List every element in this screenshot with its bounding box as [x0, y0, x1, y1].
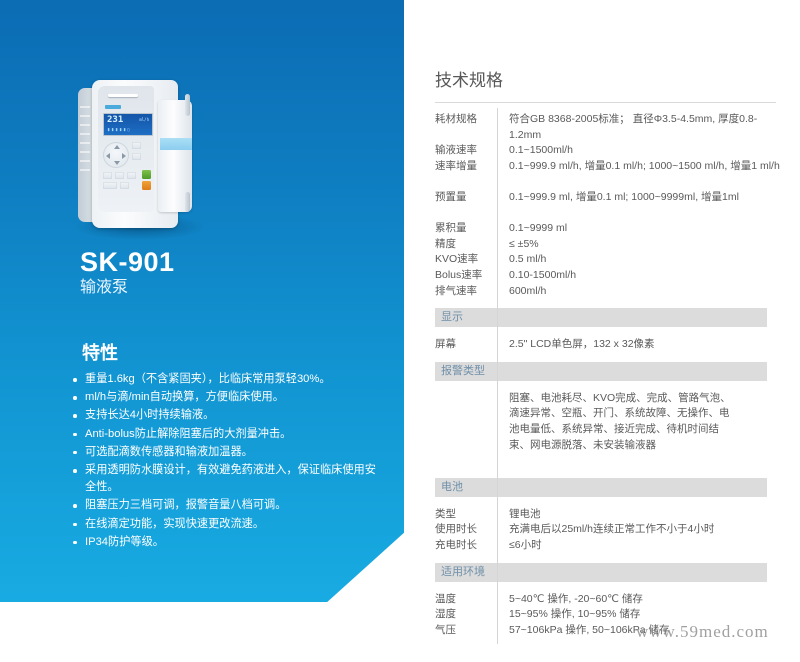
spec-section-title: 电池: [441, 480, 463, 495]
feature-item: 重量1.6kg（不含紧固夹），比临床常用泵轻30%。: [70, 371, 382, 388]
spec-label: 精度: [435, 237, 497, 253]
spec-section-title: 显示: [441, 310, 463, 325]
pump-key-bolus: [132, 153, 141, 160]
spec-value: 锂电池: [509, 507, 789, 523]
pump-door-hinge-top: [185, 94, 190, 116]
lcd-rate-value: 231: [107, 116, 123, 125]
pump-side-labels: [80, 106, 94, 198]
spec-section-title: 报警类型: [441, 364, 485, 379]
pump-key-3: [127, 172, 136, 179]
lcd-progress-bar: ▮▮▮▮▮▯: [107, 127, 131, 133]
feature-item: Anti-bolus防止解除阻塞后的大剂量冲击。: [70, 426, 382, 443]
pump-door-window: [160, 138, 192, 150]
feature-item: 可选配滴数传感器和输液加温器。: [70, 444, 382, 461]
spec-label: 输液速率: [435, 143, 497, 159]
pump-keypad: [101, 140, 153, 190]
pump-indicator-leds: [134, 105, 150, 109]
spec-label: 累积量: [435, 221, 497, 237]
spec-label: 湿度: [435, 607, 497, 623]
features-heading: 特性: [82, 341, 118, 365]
spec-label: KVO速率: [435, 252, 497, 268]
pump-key-menu: [132, 142, 141, 149]
spec-value: 5~40℃ 操作, -20~60℃ 储存: [509, 592, 789, 608]
pump-key-1: [103, 172, 112, 179]
spec-value: 阻塞、电池耗尽、KVO完成、完成、管路气泡、滴速异常、空瓶、开门、系统故障、无操…: [509, 391, 731, 453]
pump-key-stop: [142, 181, 151, 190]
specifications-heading: 技术规格: [435, 69, 503, 93]
spec-label: 预置量: [435, 190, 497, 206]
spec-label: 使用时长: [435, 522, 497, 538]
feature-item: 在线滴定功能，实现快速更改流速。: [70, 516, 382, 533]
spec-section-band: 适用环境: [435, 563, 767, 582]
product-image-infusion-pump: 231 ml/h ▮▮▮▮▮▯: [72, 72, 204, 240]
pump-dpad: [103, 142, 129, 168]
spec-label: 耗材规格: [435, 112, 497, 128]
feature-item: 采用透明防水膜设计，有效避免药液进入，保证临床使用安全性。: [70, 462, 382, 496]
spec-value: 600ml/h: [509, 284, 789, 300]
arrow-up-icon: [114, 145, 120, 149]
site-watermark: www.59med.com: [636, 622, 769, 642]
spec-value: 0.1~999.9 ml/h, 增量0.1 ml/h; 1000~1500 ml…: [509, 159, 789, 175]
feature-item: IP34防护等级。: [70, 534, 382, 551]
spec-value: 充满电后以25ml/h连续正常工作不小于4小时: [509, 522, 789, 538]
spec-value: 0.1~999.9 ml, 增量0.1 ml; 1000~9999ml, 增量1…: [509, 190, 789, 206]
spec-section-band: 显示: [435, 308, 767, 327]
features-list: 重量1.6kg（不含紧固夹），比临床常用泵轻30%。ml/h与滴/min自动换算…: [70, 371, 382, 552]
spec-label: 温度: [435, 592, 497, 608]
spec-value: 0.1~9999 ml: [509, 221, 789, 237]
pump-door-hinge-bottom: [185, 192, 190, 212]
feature-item: 支持长达4小时持续输液。: [70, 407, 382, 424]
product-model-name: SK-901: [80, 246, 380, 278]
spec-label: Bolus速率: [435, 268, 497, 284]
spec-section-band: 电池: [435, 478, 767, 497]
spec-value: 15~95% 操作, 10~95% 储存: [509, 607, 789, 623]
arrow-down-icon: [114, 161, 120, 165]
arrow-left-icon: [106, 153, 110, 159]
pump-key-start: [142, 170, 151, 179]
spec-value: ≤6小时: [509, 538, 789, 554]
spec-label: 气压: [435, 623, 497, 639]
lcd-rate-unit: ml/h: [139, 117, 149, 122]
spec-label: 排气速率: [435, 284, 497, 300]
spec-value: 2.5" LCD单色屏，132 x 32像素: [509, 337, 789, 353]
spec-section-band: 报警类型: [435, 362, 767, 381]
spec-label: 充电时长: [435, 538, 497, 554]
feature-item: ml/h与滴/min自动换算，方便临床使用。: [70, 389, 382, 406]
spec-value: 符合GB 8368-2005标准； 直径Φ3.5-4.5mm, 厚度0.8-1.…: [509, 112, 789, 143]
spec-value: ≤ ±5%: [509, 237, 789, 253]
spec-value: 0.5 ml/h: [509, 252, 789, 268]
specifications-panel: 技术规格 耗材规格符合GB 8368-2005标准； 直径Φ3.5-4.5mm,…: [404, 0, 800, 662]
spec-label: 屏幕: [435, 337, 497, 353]
product-category: 输液泵: [80, 278, 380, 298]
pump-brand-logo: [105, 105, 121, 109]
pump-key-4: [120, 182, 129, 189]
feature-item: 阻塞压力三档可调，报警音量八档可调。: [70, 497, 382, 514]
arrow-right-icon: [122, 153, 126, 159]
pump-key-2: [115, 172, 124, 179]
pump-lcd-screen: 231 ml/h ▮▮▮▮▮▯: [103, 113, 153, 136]
spec-value: 0.10-1500ml/h: [509, 268, 789, 284]
specifications-heading-rule: [435, 102, 776, 103]
spec-column-divider: [497, 108, 498, 644]
spec-section-title: 适用环境: [441, 565, 485, 580]
pump-handle: [108, 94, 138, 97]
spec-value: 0.1~1500ml/h: [509, 143, 789, 159]
spec-label: 速率增量: [435, 159, 497, 175]
pump-key-power: [103, 182, 117, 189]
spec-label: 类型: [435, 507, 497, 523]
